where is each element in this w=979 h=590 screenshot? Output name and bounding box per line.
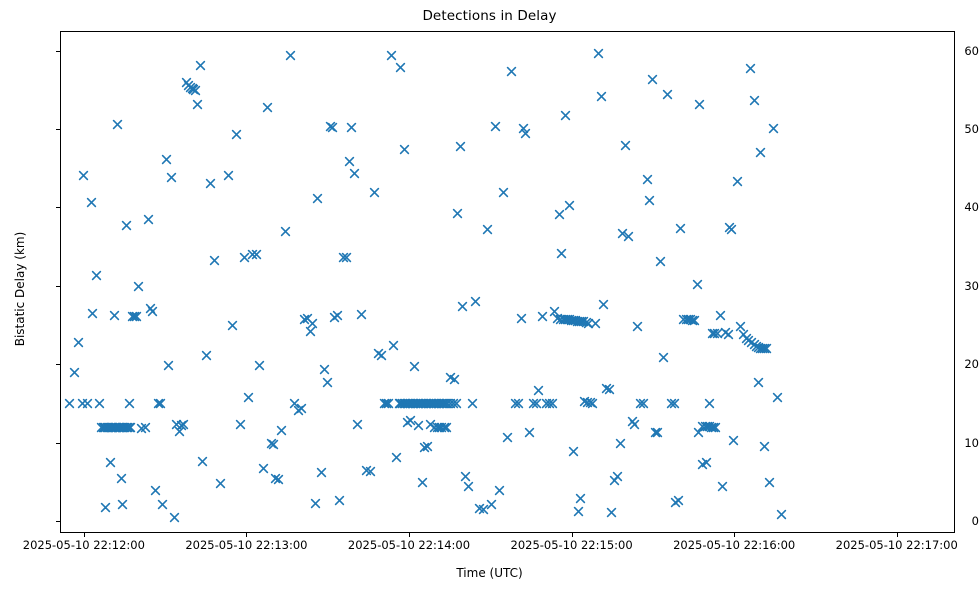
scatter-point bbox=[379, 398, 390, 409]
scatter-point bbox=[650, 427, 661, 438]
scatter-point bbox=[755, 147, 766, 158]
scatter-point bbox=[109, 310, 120, 321]
scatter-point bbox=[266, 438, 277, 449]
scatter-point bbox=[131, 311, 142, 322]
scatter-point bbox=[629, 419, 640, 430]
scatter-point bbox=[670, 497, 681, 508]
x-tick-mark bbox=[409, 533, 410, 537]
scatter-point bbox=[598, 299, 609, 310]
scatter-point bbox=[302, 313, 313, 324]
scatter-point bbox=[429, 398, 440, 409]
scatter-point bbox=[386, 50, 397, 61]
scatter-point bbox=[124, 422, 135, 433]
scatter-point bbox=[122, 422, 133, 433]
scatter-point bbox=[635, 398, 646, 409]
scatter-point bbox=[642, 174, 653, 185]
scatter-point bbox=[98, 422, 109, 433]
scatter-point bbox=[276, 425, 287, 436]
scatter-point bbox=[405, 398, 416, 409]
scatter-point bbox=[510, 398, 521, 409]
scatter-point bbox=[568, 446, 579, 457]
x-axis-label: Time (UTC) bbox=[0, 566, 979, 580]
scatter-point bbox=[107, 422, 118, 433]
x-tick-mark bbox=[734, 533, 735, 537]
scatter-point bbox=[617, 228, 628, 239]
scatter-point bbox=[201, 350, 212, 361]
scatter-point bbox=[627, 416, 638, 427]
scatter-point bbox=[169, 512, 180, 523]
scatter-point bbox=[410, 398, 421, 409]
scatter-point bbox=[395, 62, 406, 73]
scatter-point bbox=[429, 422, 440, 433]
scatter-point bbox=[732, 176, 743, 187]
scatter-point bbox=[533, 385, 544, 396]
scatter-point bbox=[709, 328, 720, 339]
scatter-point bbox=[764, 477, 775, 488]
scatter-point bbox=[666, 398, 677, 409]
scatter-point bbox=[285, 50, 296, 61]
scatter-point bbox=[683, 314, 694, 325]
scatter-point bbox=[407, 398, 418, 409]
scatter-point bbox=[555, 314, 566, 325]
scatter-point bbox=[704, 421, 715, 432]
scatter-point bbox=[478, 504, 489, 515]
scatter-point bbox=[405, 415, 416, 426]
scatter-point bbox=[227, 320, 238, 331]
scatter-point bbox=[697, 459, 708, 470]
scatter-point bbox=[704, 398, 715, 409]
scatter-point bbox=[365, 466, 376, 477]
scatter-point bbox=[73, 337, 84, 348]
scatter-point bbox=[706, 422, 717, 433]
scatter-point bbox=[166, 172, 177, 183]
scatter-point bbox=[689, 315, 700, 326]
scatter-point bbox=[578, 316, 589, 327]
scatter-point bbox=[400, 398, 411, 409]
scatter-point bbox=[381, 398, 392, 409]
scatter-point bbox=[329, 312, 340, 323]
scatter-point bbox=[566, 315, 577, 326]
scatter-point bbox=[520, 128, 531, 139]
scatter-point bbox=[178, 419, 189, 430]
scatter-point bbox=[528, 398, 539, 409]
scatter-point bbox=[105, 457, 116, 468]
scatter-point bbox=[678, 314, 689, 325]
scatter-point bbox=[64, 398, 75, 409]
scatter-point bbox=[346, 122, 357, 133]
scatter-point bbox=[673, 495, 684, 506]
scatter-point bbox=[102, 422, 113, 433]
scatter-point bbox=[280, 226, 291, 237]
scatter-point bbox=[516, 313, 527, 324]
scatter-point bbox=[658, 352, 669, 363]
scatter-point bbox=[655, 256, 666, 267]
scatter-point bbox=[554, 209, 565, 220]
scatter-point bbox=[720, 327, 731, 338]
scatter-point bbox=[99, 422, 110, 433]
scatter-point bbox=[428, 398, 439, 409]
scatter-point bbox=[564, 314, 575, 325]
scatter-point bbox=[190, 85, 201, 96]
scatter-point bbox=[117, 499, 128, 510]
scatter-point bbox=[697, 421, 708, 432]
x-tick-label: 2025-05-10 22:14:00 bbox=[319, 538, 499, 552]
scatter-point bbox=[334, 495, 345, 506]
scatter-point bbox=[223, 170, 234, 181]
scatter-point bbox=[231, 129, 242, 140]
scatter-point bbox=[140, 422, 151, 433]
scatter-point bbox=[604, 384, 615, 395]
scatter-point bbox=[412, 398, 423, 409]
scatter-point bbox=[161, 154, 172, 165]
scatter-point bbox=[397, 398, 408, 409]
scatter-point bbox=[188, 84, 199, 95]
scatter-point bbox=[254, 360, 265, 371]
scatter-point bbox=[338, 252, 349, 263]
scatter-point bbox=[114, 422, 125, 433]
scatter-point bbox=[125, 422, 136, 433]
scatter-point bbox=[436, 422, 447, 433]
scatter-point bbox=[755, 343, 766, 354]
scatter-point bbox=[176, 420, 187, 431]
scatter-point bbox=[197, 456, 208, 467]
scatter-point bbox=[445, 398, 456, 409]
scatter-point bbox=[593, 48, 604, 59]
scatter-point bbox=[498, 187, 509, 198]
scatter-point bbox=[581, 317, 592, 328]
scatter-point bbox=[293, 405, 304, 416]
scatter-point bbox=[235, 419, 246, 430]
scatter-point bbox=[109, 422, 120, 433]
scatter-point bbox=[423, 398, 434, 409]
scatter-point bbox=[349, 168, 360, 179]
scatter-point bbox=[183, 80, 194, 91]
scatter-point bbox=[612, 471, 623, 482]
scatter-point bbox=[421, 398, 432, 409]
scatter-point bbox=[596, 91, 607, 102]
scatter-point bbox=[562, 314, 573, 325]
scatter-point bbox=[352, 419, 363, 430]
scatter-point bbox=[707, 328, 718, 339]
scatter-point bbox=[451, 398, 462, 409]
scatter-point bbox=[391, 452, 402, 463]
scatter-point bbox=[564, 200, 575, 211]
scatter-point bbox=[322, 377, 333, 388]
scatter-point bbox=[273, 474, 284, 485]
scatter-point bbox=[356, 309, 367, 320]
scatter-point bbox=[77, 398, 88, 409]
scatter-point bbox=[490, 121, 501, 132]
scatter-point bbox=[258, 463, 269, 474]
scatter-point bbox=[438, 398, 449, 409]
scatter-point bbox=[119, 422, 130, 433]
scatter-point bbox=[759, 441, 770, 452]
scatter-point bbox=[243, 392, 254, 403]
scatter-point bbox=[105, 422, 116, 433]
scatter-point bbox=[549, 306, 560, 317]
scatter-point bbox=[541, 398, 552, 409]
scatter-point bbox=[133, 281, 144, 292]
scatter-point bbox=[150, 485, 161, 496]
scatter-point bbox=[455, 141, 466, 152]
scatter-point bbox=[587, 398, 598, 409]
scatter-point bbox=[399, 144, 410, 155]
scatter-point bbox=[121, 220, 132, 231]
scatter-point bbox=[457, 301, 468, 312]
scatter-point bbox=[327, 122, 338, 133]
scatter-point bbox=[171, 419, 182, 430]
scatter-point bbox=[373, 348, 384, 359]
scatter-point bbox=[717, 481, 728, 492]
scatter-point bbox=[247, 249, 258, 260]
scatter-point bbox=[127, 311, 138, 322]
scatter-point bbox=[195, 60, 206, 71]
x-tick-label: 2025-05-10 22:12:00 bbox=[0, 538, 174, 552]
scatter-point bbox=[572, 316, 583, 327]
scatter-point bbox=[425, 419, 436, 430]
chart-title: Detections in Delay bbox=[0, 8, 979, 24]
scatter-point bbox=[413, 420, 424, 431]
scatter-points-layer bbox=[61, 32, 954, 532]
scatter-point bbox=[434, 398, 445, 409]
scatter-point bbox=[209, 255, 220, 266]
scatter-point bbox=[103, 422, 114, 433]
scatter-point bbox=[419, 442, 430, 453]
scatter-point bbox=[687, 315, 698, 326]
scatter-point bbox=[307, 318, 318, 329]
scatter-point bbox=[544, 398, 555, 409]
scatter-point bbox=[310, 498, 321, 509]
scatter-point bbox=[615, 438, 626, 449]
scatter-point bbox=[494, 485, 505, 496]
scatter-point bbox=[445, 372, 456, 383]
scatter-point bbox=[537, 311, 548, 322]
scatter-point bbox=[723, 329, 734, 340]
scatter-point bbox=[394, 398, 405, 409]
scatter-point bbox=[506, 66, 517, 77]
scatter-point bbox=[590, 318, 601, 329]
scatter-point bbox=[124, 398, 135, 409]
scatter-point bbox=[163, 360, 174, 371]
scatter-point bbox=[251, 249, 262, 260]
scatter-point bbox=[434, 422, 445, 433]
scatter-point bbox=[408, 398, 419, 409]
scatter-point bbox=[531, 398, 542, 409]
scatter-point bbox=[552, 313, 563, 324]
scatter-point bbox=[576, 316, 587, 327]
scatter-point bbox=[399, 398, 410, 409]
scatter-point bbox=[402, 417, 413, 428]
scatter-point bbox=[87, 308, 98, 319]
scatter-point bbox=[735, 321, 746, 332]
scatter-point bbox=[316, 467, 327, 478]
scatter-point bbox=[463, 481, 474, 492]
scatter-point bbox=[574, 316, 585, 327]
scatter-point bbox=[403, 398, 414, 409]
scatter-point bbox=[609, 475, 620, 486]
scatter-point bbox=[417, 477, 428, 488]
scatter-point bbox=[694, 99, 705, 110]
scatter-point bbox=[121, 422, 132, 433]
scatter-point bbox=[439, 422, 450, 433]
scatter-point bbox=[441, 398, 452, 409]
scatter-point bbox=[558, 314, 569, 325]
scatter-point bbox=[449, 374, 460, 385]
scatter-point bbox=[136, 423, 147, 434]
scatter-point bbox=[583, 318, 594, 329]
scatter-point bbox=[296, 403, 307, 414]
scatter-point bbox=[647, 74, 658, 85]
scatter-point bbox=[117, 422, 128, 433]
scatter-point bbox=[344, 156, 355, 167]
scatter-point bbox=[693, 427, 704, 438]
scatter-point bbox=[268, 439, 279, 450]
scatter-point bbox=[439, 398, 450, 409]
scatter-point bbox=[436, 398, 447, 409]
scatter-point bbox=[726, 224, 737, 235]
scatter-point bbox=[82, 398, 93, 409]
scatter-point bbox=[452, 208, 463, 219]
scatter-point bbox=[299, 314, 310, 325]
scatter-point bbox=[78, 170, 89, 181]
scatter-point bbox=[426, 398, 437, 409]
scatter-point bbox=[96, 422, 107, 433]
scatter-point bbox=[620, 140, 631, 151]
scatter-point bbox=[448, 398, 459, 409]
scatter-point bbox=[724, 222, 735, 233]
scatter-point bbox=[757, 343, 768, 354]
scatter-point bbox=[692, 279, 703, 290]
scatter-point bbox=[325, 121, 336, 132]
scatter-point bbox=[585, 397, 596, 408]
scatter-point bbox=[118, 422, 129, 433]
scatter-point bbox=[115, 422, 126, 433]
scatter-point bbox=[383, 398, 394, 409]
scatter-point bbox=[772, 392, 783, 403]
scatter-point bbox=[753, 342, 764, 353]
scatter-point bbox=[560, 110, 571, 121]
scatter-point bbox=[153, 398, 164, 409]
scatter-point bbox=[570, 315, 581, 326]
scatter-point bbox=[129, 311, 140, 322]
scatter-point bbox=[513, 398, 524, 409]
scatter-point bbox=[185, 82, 196, 93]
scatter-point bbox=[270, 473, 281, 484]
scatter-point bbox=[632, 321, 643, 332]
scatter-point bbox=[432, 422, 443, 433]
scatter-point bbox=[547, 398, 558, 409]
scatter-point bbox=[94, 398, 105, 409]
x-tick-mark bbox=[897, 533, 898, 537]
scatter-point bbox=[332, 310, 343, 321]
scatter-point bbox=[205, 178, 216, 189]
scatter-point bbox=[749, 95, 760, 106]
x-tick-label: 2025-05-10 22:15:00 bbox=[482, 538, 662, 552]
scatter-point bbox=[685, 314, 696, 325]
scatter-point bbox=[111, 422, 122, 433]
scatter-point bbox=[701, 457, 712, 468]
scatter-point bbox=[422, 441, 433, 452]
scatter-point bbox=[181, 77, 192, 88]
scatter-point bbox=[751, 341, 762, 352]
scatter-plot-figure: Detections in Delay Bistatic Delay (km) … bbox=[0, 0, 979, 590]
scatter-point bbox=[623, 231, 634, 242]
scatter-point bbox=[319, 364, 330, 375]
scatter-point bbox=[741, 333, 752, 344]
scatter-point bbox=[289, 398, 300, 409]
scatter-point bbox=[702, 421, 713, 432]
scatter-point bbox=[145, 303, 156, 314]
scatter-point bbox=[560, 314, 571, 325]
scatter-point bbox=[388, 340, 399, 351]
scatter-point bbox=[573, 506, 584, 517]
scatter-point bbox=[174, 426, 185, 437]
scatter-point bbox=[710, 422, 721, 433]
scatter-point bbox=[143, 214, 154, 225]
scatter-point bbox=[431, 398, 442, 409]
scatter-point bbox=[467, 398, 478, 409]
scatter-point bbox=[187, 83, 198, 94]
scatter-point bbox=[239, 252, 250, 263]
scatter-point bbox=[644, 195, 655, 206]
scatter-point bbox=[675, 223, 686, 234]
scatter-point bbox=[112, 119, 123, 130]
x-tick-label: 2025-05-10 22:13:00 bbox=[156, 538, 336, 552]
scatter-point bbox=[470, 296, 481, 307]
scatter-point bbox=[776, 509, 787, 520]
scatter-point bbox=[761, 343, 772, 354]
scatter-point bbox=[749, 339, 760, 350]
scatter-point bbox=[518, 123, 529, 134]
scatter-point bbox=[460, 471, 471, 482]
scatter-point bbox=[442, 398, 453, 409]
scatter-point bbox=[369, 187, 380, 198]
scatter-point bbox=[113, 422, 124, 433]
scatter-point bbox=[100, 422, 111, 433]
scatter-point bbox=[486, 499, 497, 510]
scatter-point bbox=[413, 398, 424, 409]
scatter-point bbox=[192, 99, 203, 110]
x-tick-label: 2025-05-10 22:16:00 bbox=[644, 538, 824, 552]
scatter-point bbox=[418, 398, 429, 409]
scatter-point bbox=[402, 398, 413, 409]
scatter-point bbox=[575, 493, 586, 504]
scatter-point bbox=[606, 507, 617, 518]
scatter-point bbox=[502, 432, 513, 443]
scatter-point bbox=[474, 503, 485, 514]
scatter-point bbox=[743, 335, 754, 346]
x-tick-mark bbox=[246, 533, 247, 537]
scatter-point bbox=[715, 310, 726, 321]
scatter-point bbox=[579, 396, 590, 407]
scatter-point bbox=[361, 465, 372, 476]
scatter-point bbox=[638, 398, 649, 409]
scatter-point bbox=[415, 398, 426, 409]
scatter-point bbox=[416, 398, 427, 409]
scatter-point bbox=[669, 398, 680, 409]
scatter-point bbox=[420, 398, 431, 409]
scatter-point bbox=[601, 383, 612, 394]
scatter-point bbox=[768, 123, 779, 134]
scatter-point bbox=[759, 343, 770, 354]
scatter-point bbox=[341, 252, 352, 263]
scatter-point bbox=[106, 422, 117, 433]
x-tick-label: 2025-05-10 22:17:00 bbox=[807, 538, 979, 552]
scatter-point bbox=[662, 89, 673, 100]
scatter-point bbox=[652, 427, 663, 438]
scatter-point bbox=[745, 63, 756, 74]
x-tick-mark bbox=[84, 533, 85, 537]
